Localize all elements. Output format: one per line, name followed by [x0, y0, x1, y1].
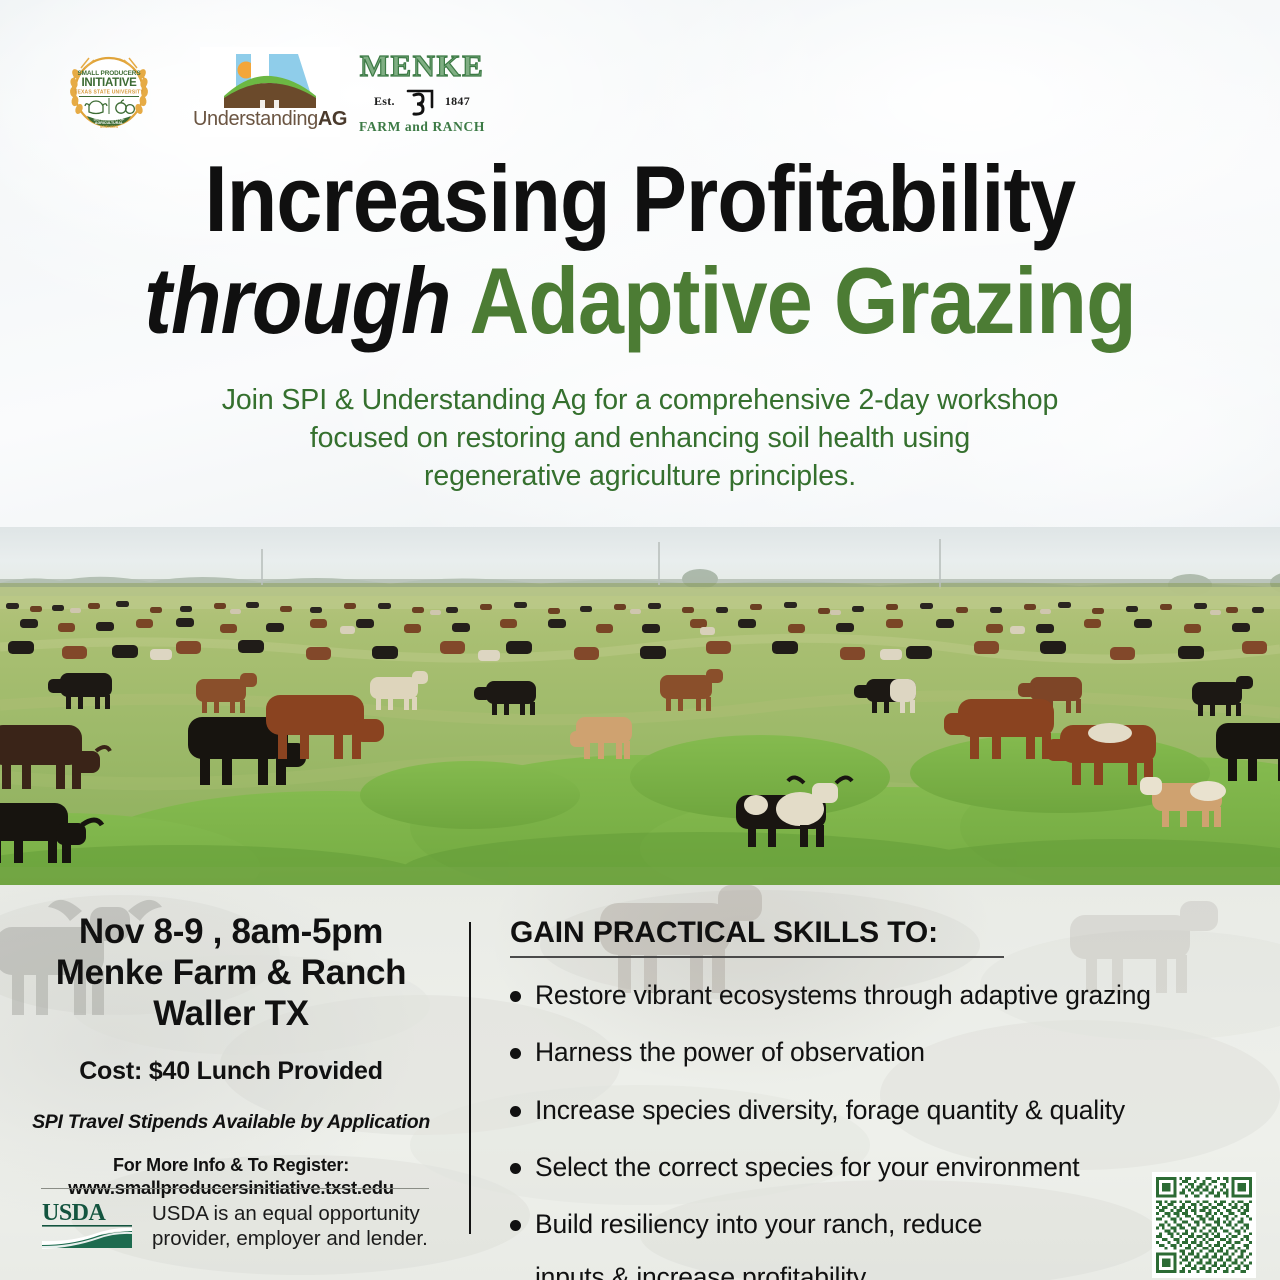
menke-logo: MENKE Est. 1847 FARM and RANCH [352, 46, 492, 138]
bullet-icon [510, 1048, 521, 1059]
column-divider [469, 922, 471, 1234]
understanding-ag-wordmark: UnderstandingAG [193, 109, 347, 129]
menke-brand-icon [401, 82, 439, 120]
bullet-icon [510, 1163, 521, 1174]
skills-heading: GAIN PRACTICAL SKILLS TO: [510, 916, 1270, 950]
skills-heading-underline [510, 956, 1004, 958]
svg-text:INITIATIVE: INITIATIVE [82, 77, 138, 89]
spi-logo: SMALL PRODUCERS INITIATIVE TEXAS STATE U… [63, 48, 155, 136]
event-city: Waller TX [0, 994, 462, 1035]
usda-wordmark: USDA [42, 1200, 107, 1226]
usda-disclaimer-line-2: provider, employer and lender. [152, 1226, 428, 1251]
event-datetime: Nov 8-9 , 8am-5pm [0, 912, 462, 953]
event-venue: Menke Farm & Ranch [0, 953, 462, 994]
title-line-1: Increasing Profitability [77, 152, 1203, 246]
menke-name: MENKE [360, 50, 485, 81]
svg-text:SCIENCES: SCIENCES [100, 125, 119, 129]
skill-text: Harness the power of observation [535, 1037, 1270, 1068]
skill-text: Build resiliency into your ranch, reduce [535, 1209, 982, 1239]
list-item: Restore vibrant ecosystems through adapt… [510, 980, 1270, 1011]
event-details-column: Nov 8-9 , 8am-5pm Menke Farm & Ranch Wal… [0, 912, 462, 1199]
subtitle: Join SPI & Understanding Ag for a compre… [200, 382, 1080, 496]
bullet-icon [510, 1106, 521, 1117]
pasture-photo [0, 527, 1280, 885]
usda-divider [41, 1188, 429, 1189]
register-label: For More Info & To Register: [0, 1154, 462, 1177]
qr-code[interactable] [1152, 1172, 1256, 1278]
event-cost: Cost: $40 Lunch Provided [0, 1057, 462, 1086]
subtitle-line-3: regenerative agriculture principles. [200, 458, 1080, 496]
usda-logo: USDA [40, 1200, 136, 1252]
menke-year: 1847 [445, 94, 470, 109]
logo-row: SMALL PRODUCERS INITIATIVE TEXAS STATE U… [0, 22, 1280, 120]
title-adaptive-grazing: Adaptive Grazing [470, 248, 1136, 353]
bullet-icon [510, 1220, 521, 1231]
menke-tagline: FARM and RANCH [359, 120, 485, 134]
menke-est-label: Est. [374, 94, 395, 109]
qr-code-graphic [1156, 1176, 1252, 1274]
travel-stipend-note: SPI Travel Stipends Available by Applica… [0, 1111, 462, 1134]
bullet-icon [510, 991, 521, 1002]
skill-text: Increase species diversity, forage quant… [535, 1095, 1270, 1126]
subtitle-line-1: Join SPI & Understanding Ag for a compre… [200, 382, 1080, 420]
title-line-2: through Adaptive Grazing [77, 254, 1203, 348]
title-through: through [144, 248, 450, 353]
usda-disclaimer-line-1: USDA is an equal opportunity [152, 1201, 428, 1226]
understanding-ag-logo: UnderstandingAG [200, 47, 340, 137]
svg-text:TEXAS STATE UNIVERSITY: TEXAS STATE UNIVERSITY [74, 90, 144, 96]
list-item: Increase species diversity, forage quant… [510, 1095, 1270, 1126]
skill-text: Restore vibrant ecosystems through adapt… [535, 980, 1270, 1011]
list-item: Harness the power of observation [510, 1037, 1270, 1068]
understanding-ag-mark [222, 50, 318, 108]
subtitle-line-2: focused on restoring and enhancing soil … [200, 420, 1080, 458]
title-block: Increasing Profitability through Adaptiv… [0, 152, 1280, 348]
usda-block: USDA USDA is an equal opportunity provid… [40, 1200, 460, 1252]
usda-disclaimer: USDA is an equal opportunity provider, e… [152, 1201, 428, 1252]
poster-root: SMALL PRODUCERS INITIATIVE TEXAS STATE U… [0, 0, 1280, 1280]
svg-text:SMALL PRODUCERS: SMALL PRODUCERS [77, 70, 141, 77]
